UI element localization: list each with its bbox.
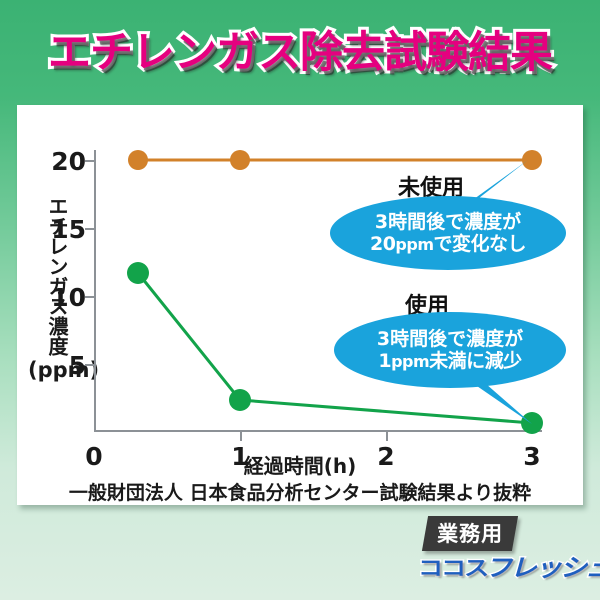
x-axis-title: 経過時間(h): [0, 450, 600, 479]
source-note: 一般財団法人 日本食品分析センター試験結果より抜粋: [0, 478, 600, 505]
callout-unused-line2: 20ppmで変化なし: [370, 233, 526, 255]
callout-used-unit: ppm: [391, 352, 429, 371]
callout-used-line1: 3時間後で濃度が: [377, 328, 523, 350]
badge-gyomuyo-label: 業務用: [437, 518, 503, 548]
series-point-unused-0: [128, 150, 148, 170]
y-tick-10: [85, 296, 94, 298]
series-point-unused-1: [230, 150, 250, 170]
y-tick-label-15: 15: [42, 215, 86, 244]
series-svg: [94, 150, 542, 440]
callout-unused-unit: ppm: [395, 235, 433, 254]
callout-unused-value: 20: [370, 233, 395, 255]
callout-used-tail-text: 未満に減少: [429, 350, 522, 372]
y-tick-15: [85, 228, 94, 230]
callout-used: 3時間後で濃度が 1ppm未満に減少: [334, 312, 566, 388]
y-tick-label-10: 10: [42, 283, 86, 312]
title-container: エチレンガス除去試験結果: [0, 18, 600, 80]
plot-area: 0 1 2 3: [94, 150, 542, 440]
poster-root: エチレンガス除去試験結果 エチレンガス濃度 (ppm) 20 15 10 5 0…: [0, 0, 600, 600]
brand-name-part2: フレッシュ: [485, 548, 600, 583]
brand-name-part1: ココス: [418, 552, 487, 582]
page-title: エチレンガス除去試験結果: [48, 18, 552, 80]
series-point-used-0: [127, 262, 149, 284]
callout-used-value: 1: [378, 350, 391, 372]
y-tick-label-5: 5: [42, 351, 86, 380]
brand-logo: ココスフレッシュ®: [418, 546, 593, 586]
callout-unused-tail-text: で変化なし: [434, 233, 527, 255]
y-tick-20: [85, 160, 94, 162]
callout-used-line2: 1ppm未満に減少: [378, 350, 521, 372]
callout-unused-line1: 3時間後で濃度が: [375, 211, 521, 233]
series-point-used-1: [229, 389, 251, 411]
series-point-unused-2: [522, 150, 542, 170]
y-tick-5: [85, 364, 94, 366]
series-point-used-2: [521, 412, 543, 434]
y-tick-label-20: 20: [42, 147, 86, 176]
callout-unused: 3時間後で濃度が 20ppmで変化なし: [330, 196, 566, 270]
